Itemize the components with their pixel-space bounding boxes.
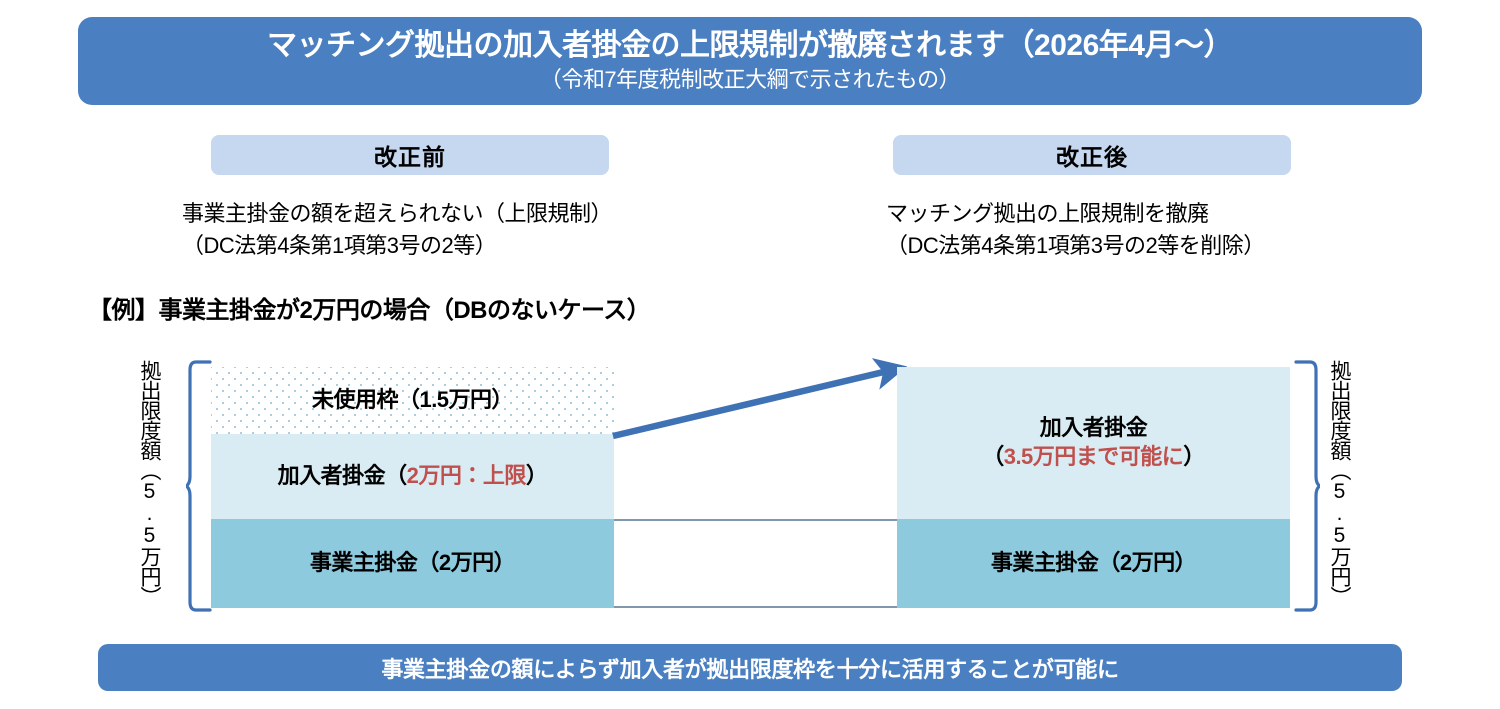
left-axis-label: 拠出限度額（5.5万円） [139,360,160,606]
left-member-suffix: ） [526,463,548,488]
right-bar-employer-label: 事業主掛金（2万円） [991,549,1196,578]
right-member-prefix: （ [982,444,1004,469]
left-bar-unused-label: 未使用枠（1.5万円） [312,386,513,415]
footer-banner-line1: 事業主掛金の額によらず加入者が拠出限度枠を十分に活用することが可能に [381,652,1118,684]
connector-line-top [614,519,897,521]
left-bar-employer-segment: 事業主掛金（2万円） [211,519,614,608]
right-member-suffix: ） [1183,444,1205,469]
left-bar-member-segment: 加入者掛金（2万円：上限） [211,434,614,519]
left-member-highlight: 2万円：上限 [407,463,526,488]
connector-line-bottom [614,606,897,608]
right-member-line1: 加入者掛金 [1040,415,1148,440]
left-bar-employer-label: 事業主掛金（2万円） [310,549,515,578]
footer-banner: 事業主掛金の額によらず加入者が拠出限度枠を十分に活用することが可能に [98,644,1402,691]
right-bar-member-label: 加入者掛金 （3.5万円まで可能に） [982,414,1205,471]
right-bar-employer-segment: 事業主掛金（2万円） [897,519,1290,608]
growth-arrow-icon [600,355,920,455]
infographic-page: マッチング拠出の加入者掛金の上限規制が撤廃されます（2026年4月〜） （令和7… [0,0,1500,709]
right-member-highlight: 3.5万円まで可能に [1004,444,1184,469]
left-bar-unused-segment: 未使用枠（1.5万円） [211,367,614,434]
right-axis-label: 拠出限度額（5.5万円） [1329,360,1350,606]
left-bar-member-label: 加入者掛金（2万円：上限） [278,462,548,491]
left-axis-brace-icon [186,360,212,612]
right-axis-brace-icon [1294,360,1320,612]
left-member-prefix: 加入者掛金（ [278,463,407,488]
right-bar-member-segment: 加入者掛金 （3.5万円まで可能に） [897,367,1290,519]
contribution-bar-chart: 拠出限度額（5.5万円） 未使用枠（1.5万円） 加入者掛金（2万円：上限） 事… [0,0,1500,709]
